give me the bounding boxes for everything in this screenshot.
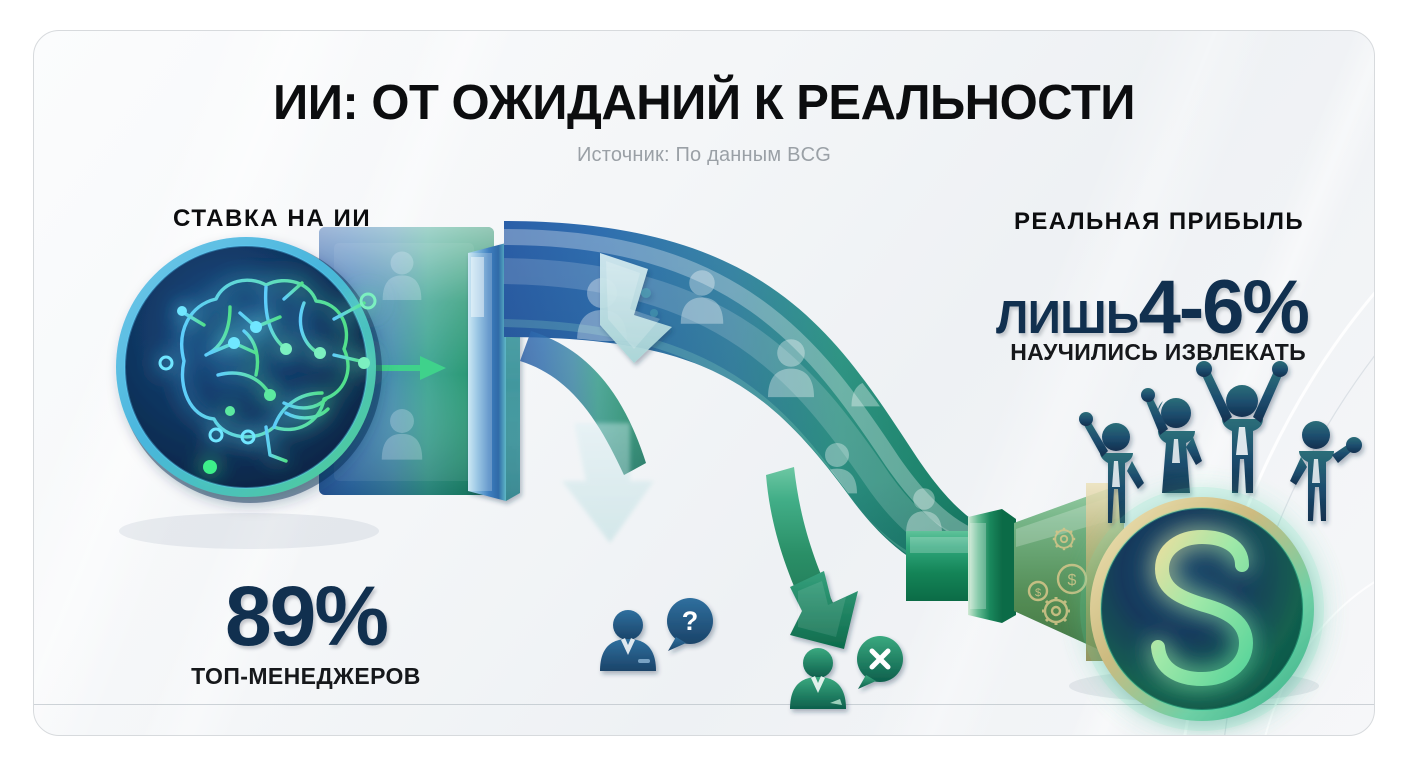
infographic-card: $ $	[33, 30, 1375, 736]
left-stat-block: 89% ТОП-МЕНЕДЖЕРОВ	[156, 579, 456, 690]
dollar-coin-icon	[1080, 487, 1324, 731]
svg-text:$: $	[1068, 572, 1077, 589]
infographic-canvas: $ $	[0, 0, 1408, 768]
left-stat-value: 89%	[156, 579, 456, 655]
person-question-icon: ?	[600, 598, 713, 671]
right-stat-value: 4-6%	[1139, 265, 1308, 350]
cross-bubble	[857, 636, 903, 689]
left-stat-caption: ТОП-МЕНЕДЖЕРОВ	[156, 663, 456, 690]
brain-circuit-icon	[116, 237, 382, 503]
source-subtitle: Источник: По данным BCG	[34, 144, 1374, 167]
person-cross-icon	[790, 636, 903, 709]
page-title: ИИ: ОТ ОЖИДАНИЙ К РЕАЛЬНОСТИ	[34, 75, 1374, 131]
left-section-label: СТАВКА НА ИИ	[173, 205, 371, 233]
question-bubble: ?	[667, 598, 713, 651]
dropoff-arrow-green	[790, 571, 858, 649]
right-stat-block: ЛИШЬ4-6%	[996, 264, 1308, 351]
right-stat-caption: НАУЧИЛИСЬ ИЗВЛЕКАТЬ	[1010, 339, 1306, 366]
svg-text:?: ?	[682, 606, 699, 636]
dropoff-arrow-blue	[562, 423, 654, 543]
svg-text:$: $	[1035, 587, 1041, 599]
right-stat-prefix: ЛИШЬ	[996, 291, 1139, 343]
right-section-label: РЕАЛЬНАЯ ПРИБЫЛЬ	[1014, 208, 1304, 236]
